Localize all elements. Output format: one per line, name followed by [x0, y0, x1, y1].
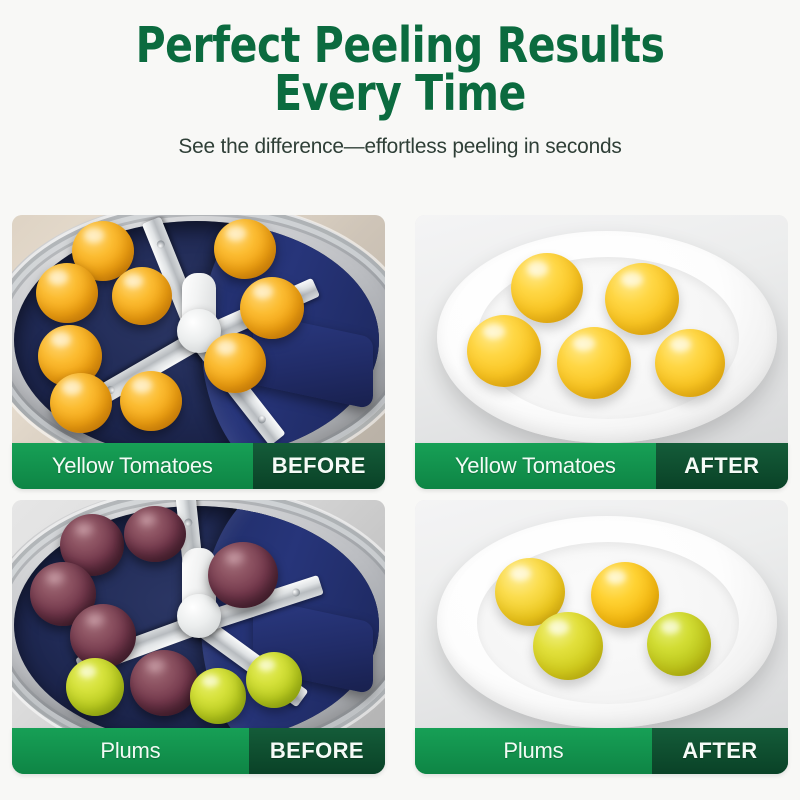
fruit-yellow-tomato [112, 267, 172, 325]
panel-state-badge: BEFORE [253, 443, 385, 489]
peeler-hub-knob [177, 594, 221, 638]
photo-plums-after [415, 500, 788, 728]
fruit-yellow-tomato [50, 373, 112, 433]
fruit-peeled-plum [591, 562, 659, 628]
fruit-peeled-yellow-tomato [467, 315, 541, 387]
panel-state-badge: BEFORE [249, 728, 385, 774]
page-subtitle: See the difference—effortless peeling in… [12, 134, 788, 159]
panel-state-badge: AFTER [656, 443, 788, 489]
fruit-peeled-plum [190, 668, 246, 724]
fruit-plum [130, 650, 198, 716]
comparison-panel-plums-before[interactable]: Plums BEFORE [12, 500, 385, 763]
plate-illustration [415, 215, 788, 443]
panel-fruit-label: Plums [415, 728, 652, 774]
photo-yellow-tomatoes-before [12, 215, 385, 443]
panel-label-bar[interactable]: Plums BEFORE [12, 728, 385, 774]
panel-fruit-label: Yellow Tomatoes [415, 443, 656, 489]
fruit-peeled-plum [66, 658, 124, 716]
fruit-peeled-plum [647, 612, 711, 676]
fruit-yellow-tomato [240, 277, 304, 339]
peeler-machine-illustration [12, 215, 385, 443]
photo-plums-before [12, 500, 385, 728]
panel-label-bar[interactable]: Yellow Tomatoes AFTER [415, 443, 788, 489]
panel-fruit-label: Plums [12, 728, 249, 774]
comparison-panel-yellow-tomatoes-before[interactable]: Yellow Tomatoes BEFORE [12, 215, 385, 478]
fruit-peeled-plum [533, 612, 603, 680]
page-title-line2: Every Time [75, 70, 726, 118]
header: Perfect Peeling Results Every Time See t… [0, 0, 800, 159]
fruit-peeled-yellow-tomato [605, 263, 679, 335]
panel-state-badge: AFTER [652, 728, 788, 774]
page-title: Perfect Peeling Results Every Time [75, 22, 726, 118]
panel-fruit-label: Yellow Tomatoes [12, 443, 253, 489]
panel-label-bar[interactable]: Plums AFTER [415, 728, 788, 774]
fruit-peeled-yellow-tomato [655, 329, 725, 397]
fruit-yellow-tomato [214, 219, 276, 279]
fruit-yellow-tomato [120, 371, 182, 431]
fruit-plum [208, 542, 278, 608]
peeler-machine-illustration [12, 500, 385, 728]
fruit-peeled-plum [246, 652, 302, 708]
comparison-panel-plums-after[interactable]: Plums AFTER [415, 500, 788, 763]
promo-page: Perfect Peeling Results Every Time See t… [0, 0, 800, 800]
fruit-plum [124, 506, 186, 562]
photo-yellow-tomatoes-after [415, 215, 788, 443]
fruit-peeled-yellow-tomato [511, 253, 583, 323]
comparison-grid: Yellow Tomatoes BEFORE [12, 215, 788, 785]
fruit-peeled-yellow-tomato [557, 327, 631, 399]
fruit-yellow-tomato [36, 263, 98, 323]
panel-label-bar[interactable]: Yellow Tomatoes BEFORE [12, 443, 385, 489]
comparison-panel-yellow-tomatoes-after[interactable]: Yellow Tomatoes AFTER [415, 215, 788, 478]
plate-illustration [415, 500, 788, 728]
fruit-yellow-tomato [204, 333, 266, 393]
